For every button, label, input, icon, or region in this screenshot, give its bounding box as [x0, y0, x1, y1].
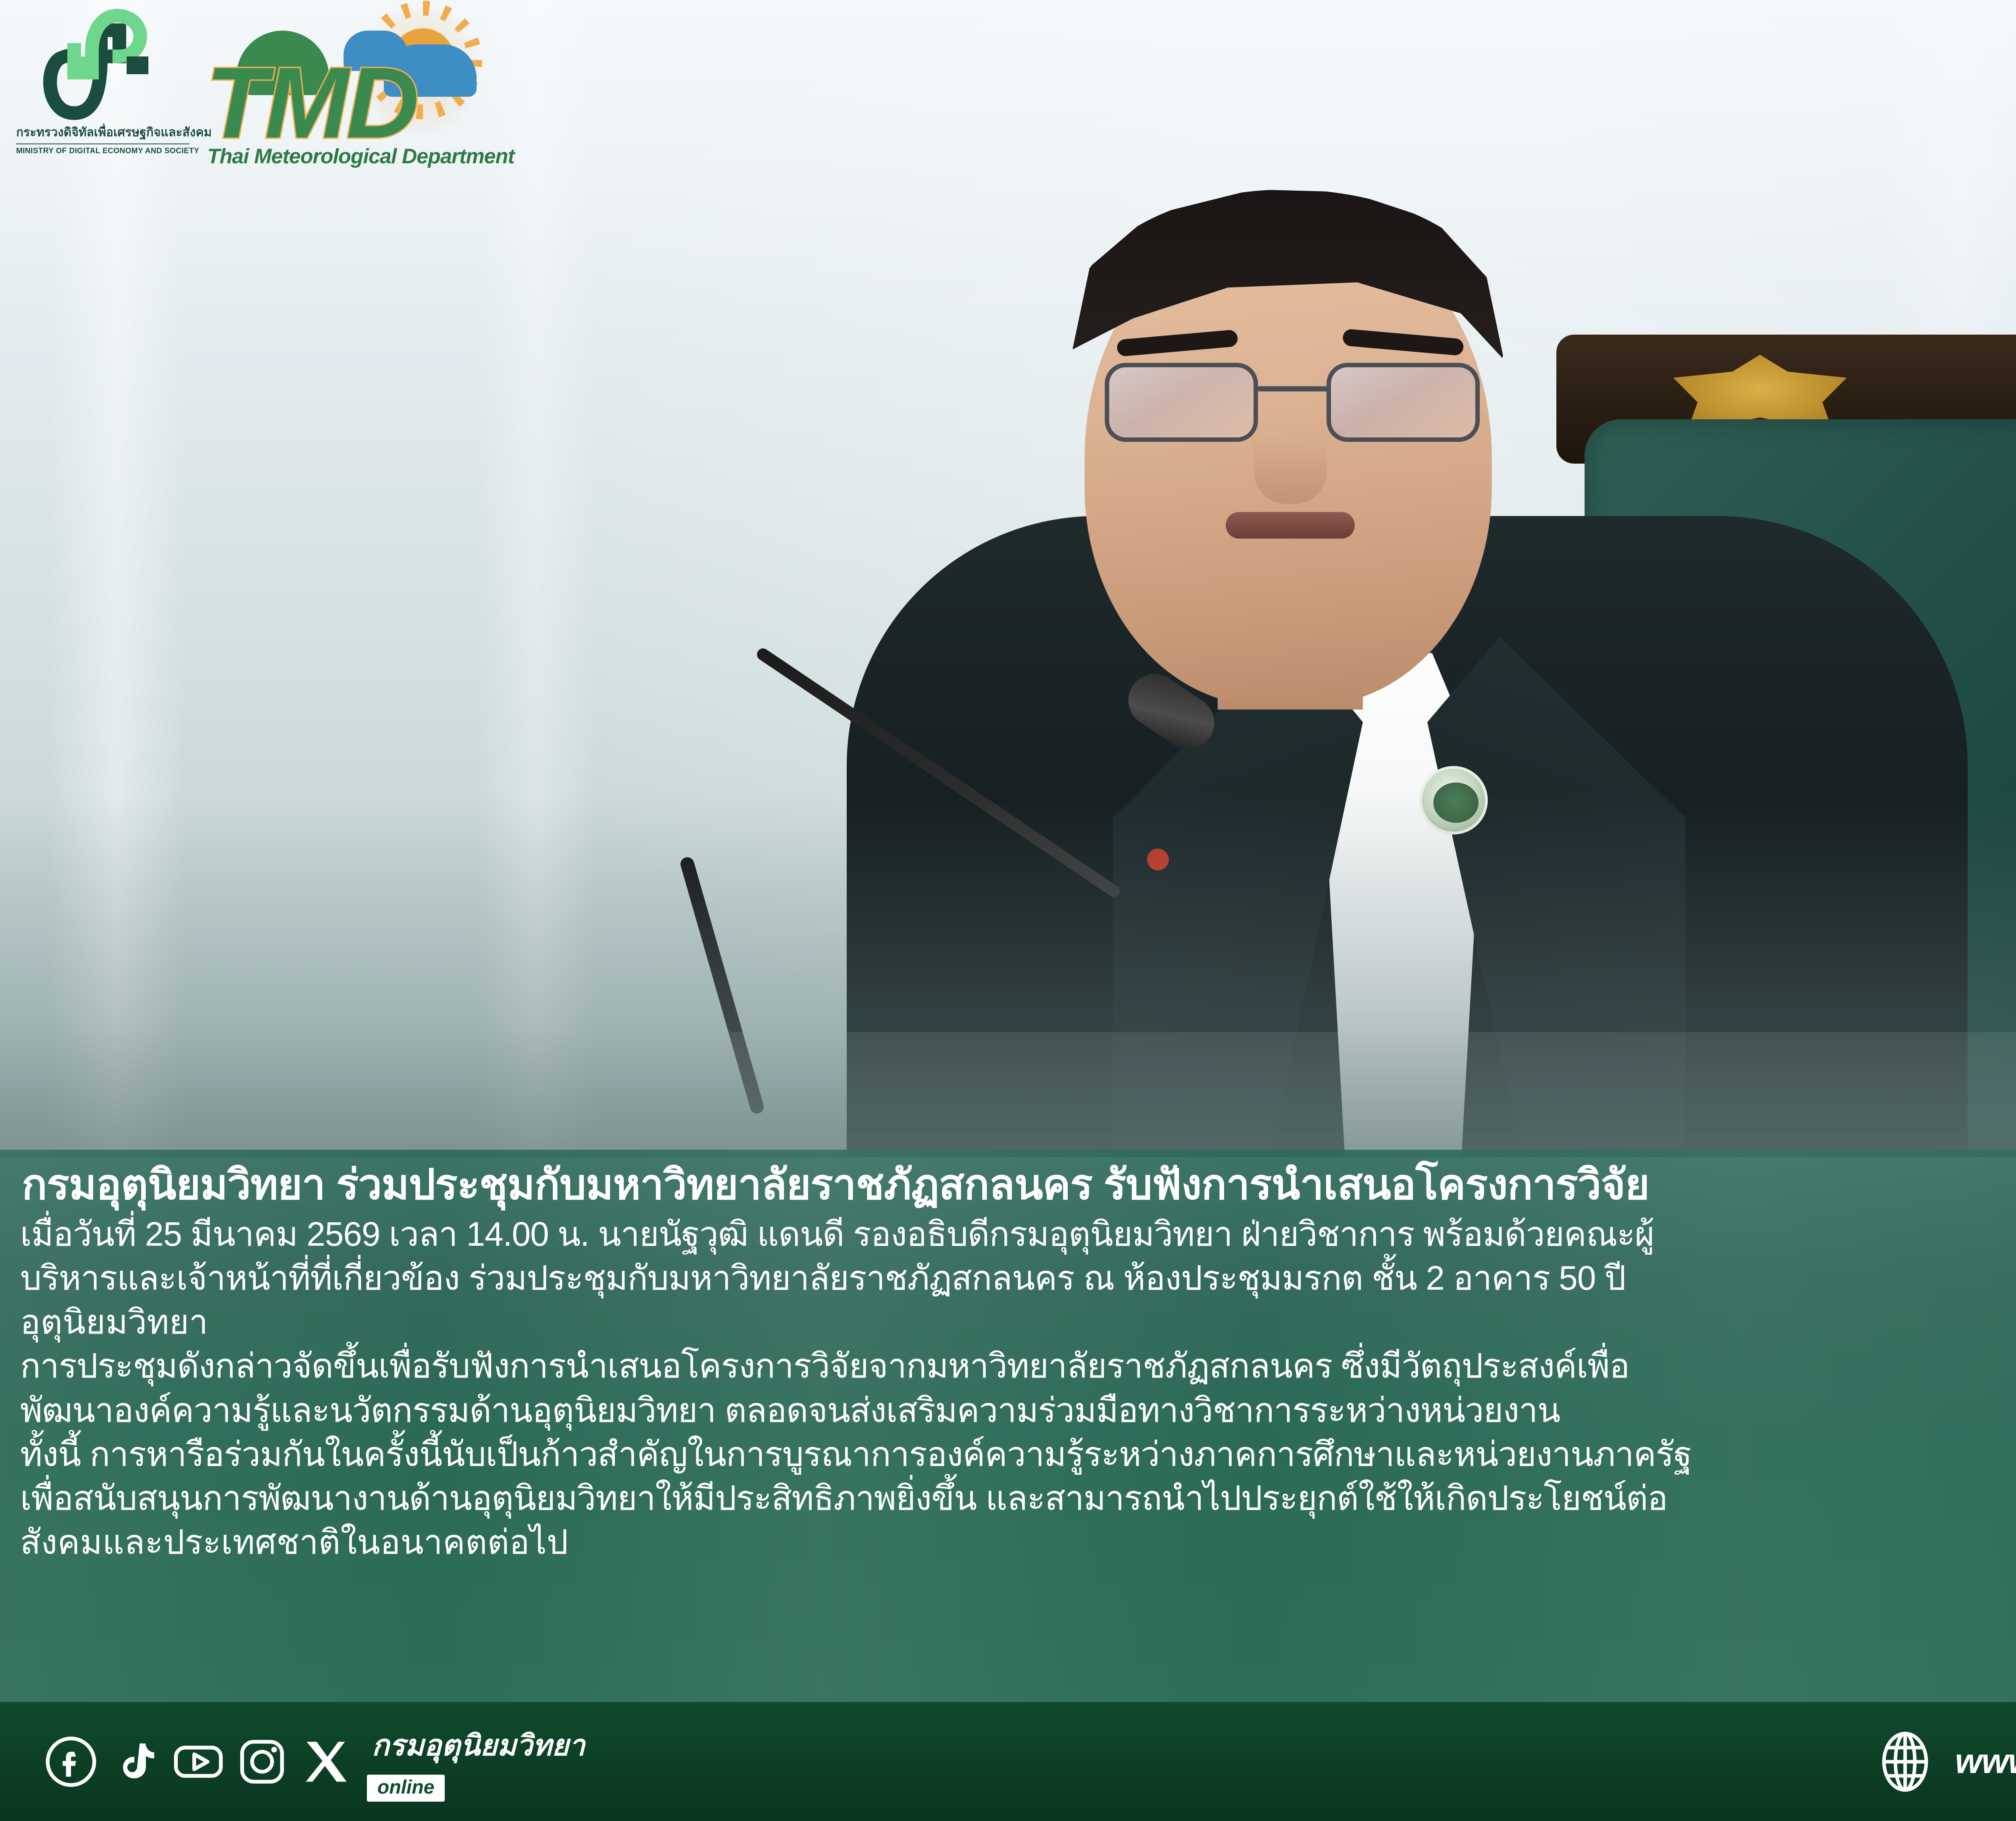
- brand-block: กรมอุตุนิยมวิทยา online: [363, 1722, 585, 1802]
- x-twitter-icon[interactable]: [299, 1735, 352, 1788]
- logo-bar: กระทรวงดิจิทัลเพื่อเศรษฐกิจและสังคม MINI…: [0, 0, 524, 177]
- body-line: เมื่อวันที่ 25 มีนาคม 2569 เวลา 14.00 น.…: [20, 1212, 2016, 1256]
- body-line: การประชุมดังกล่าวจัดขึ้นเพื่อรับฟังการนำ…: [20, 1344, 2016, 1388]
- eyeglasses-icon: [1105, 363, 1480, 443]
- tiktok-icon[interactable]: [108, 1735, 161, 1788]
- photo-vignette: [0, 794, 2016, 1157]
- body-line: บริหารและเจ้าหน้าที่ที่เกี่ยวข้อง ร่วมปร…: [20, 1256, 2016, 1300]
- body-line: อุตุนิยมวิทยา: [20, 1300, 2016, 1344]
- lens-left: [1105, 363, 1258, 442]
- globe-icon: [1877, 1729, 1933, 1794]
- ministry-name-en: MINISTRY OF DIGITAL ECONOMY AND SOCIETY: [16, 144, 190, 156]
- ministry-logo: กระทรวงดิจิทัลเพื่อเศรษฐกิจและสังคม MINI…: [16, 8, 190, 169]
- headline: กรมอุตุนิยมวิทยา ร่วมประชุมกับมหาวิทยาลั…: [22, 1159, 2016, 1211]
- brand-online-badge: online: [367, 1775, 445, 1802]
- social-links: กรมอุตุนิยมวิทยา online: [44, 1722, 585, 1802]
- speaker-nose: [1254, 435, 1327, 504]
- tmd-name-en: Thai Meteorological Department: [207, 144, 514, 169]
- body-line: พัฒนาองค์ความรู้และนวัตกรรมด้านอุตุนิยมว…: [20, 1388, 2016, 1432]
- body-line: ทั้งนี้ การหารือร่วมกันในครั้งนี้นับเป็น…: [20, 1432, 2016, 1476]
- poster-root: กระทรวงดิจิทัลเพื่อเศรษฐกิจและสังคม MINI…: [0, 0, 2016, 1821]
- mdes-infinity-mark: [40, 8, 169, 125]
- glasses-bridge: [1257, 386, 1329, 391]
- tmd-logo: TMD Thai Meteorological Department: [202, 4, 500, 173]
- lens-right: [1327, 363, 1480, 442]
- brand-name: กรมอุตุนิยมวิทยา: [372, 1722, 585, 1768]
- youtube-icon[interactable]: [172, 1735, 225, 1788]
- body-line: เพื่อสนับสนุนการพัฒนางานด้านอุตุนิยมวิทย…: [20, 1476, 2016, 1520]
- instagram-icon[interactable]: [235, 1735, 289, 1788]
- caption-panel: กรมอุตุนิยมวิทยา ร่วมประชุมกับมหาวิทยาลั…: [0, 1150, 2016, 1702]
- footer-contact: www.tmd.go.th 1182 สายด่วน: [1877, 1713, 2016, 1811]
- footer-bar: กรมอุตุนิยมวิทยา online www.tmd.go.th 11…: [0, 1702, 2016, 1821]
- facebook-icon[interactable]: [44, 1735, 98, 1788]
- speaker-mouth: [1226, 512, 1355, 539]
- tmd-acronym: TMD: [206, 52, 417, 153]
- website-url[interactable]: www.tmd.go.th: [1955, 1742, 2016, 1781]
- ministry-name-th: กระทรวงดิจิทัลเพื่อเศรษฐกิจและสังคม: [16, 126, 190, 139]
- body-line: สังคมและประเทศชาติในอนาคตต่อไป: [20, 1520, 2016, 1564]
